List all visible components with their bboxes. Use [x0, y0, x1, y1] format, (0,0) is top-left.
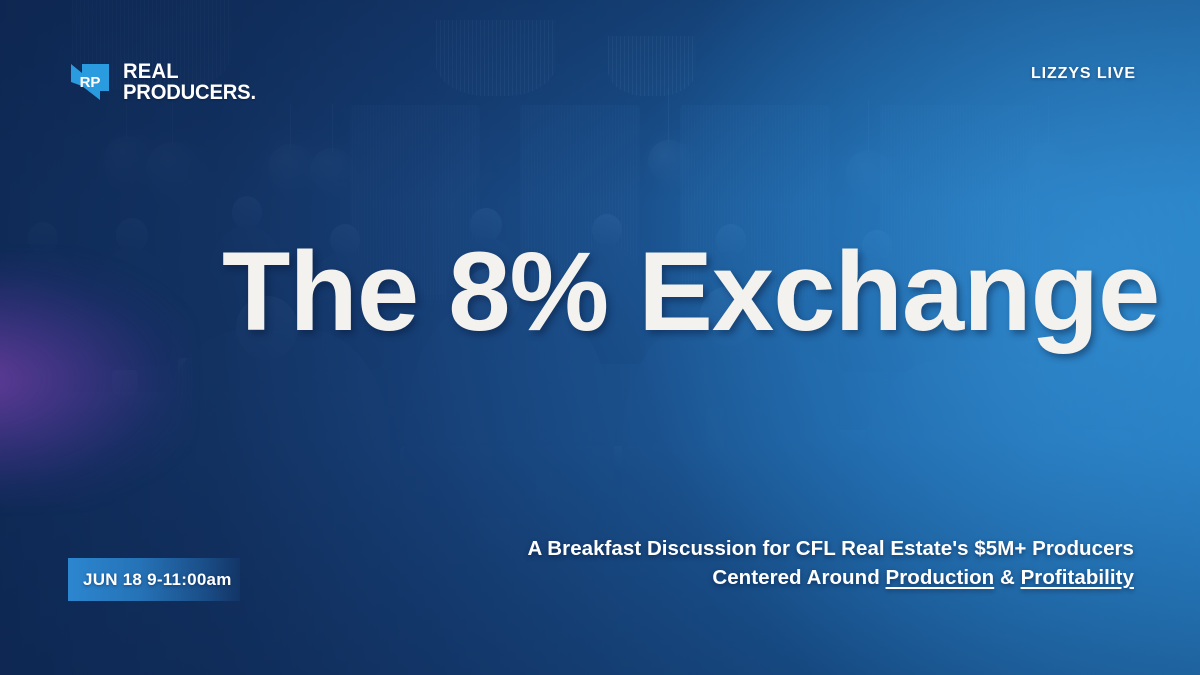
subtitle-line-1: A Breakfast Discussion for CFL Real Esta… [527, 534, 1134, 563]
date-time-label: JUN 18 9-11:00am [83, 570, 232, 590]
purple-bloom [0, 255, 190, 505]
date-time-badge: JUN 18 9-11:00am [68, 558, 240, 601]
subtitle: A Breakfast Discussion for CFL Real Esta… [527, 534, 1134, 592]
subtitle-line2-joiner: & [994, 566, 1020, 589]
event-banner: RP REAL PRODUCERS. LIZZYS LIVE The 8% Ex… [0, 0, 1200, 675]
subtitle-link-profitability[interactable]: Profitability [1021, 566, 1134, 589]
real-producers-logo[interactable]: RP REAL PRODUCERS. [68, 60, 264, 104]
rp-monogram: RP [80, 74, 101, 91]
subtitle-line-2: Centered Around Production & Profitabili… [527, 563, 1134, 592]
series-kicker: LIZZYS LIVE [1031, 65, 1136, 83]
subtitle-line2-prefix: Centered Around [712, 566, 885, 589]
logo-word-line2: PRODUCERS. [123, 82, 256, 104]
logo-wordmark: REAL PRODUCERS. [123, 61, 256, 104]
subtitle-link-production[interactable]: Production [886, 566, 995, 589]
rp-logo-mark-icon: RP [68, 60, 112, 104]
logo-word-line1: REAL [123, 61, 256, 83]
page-title: The 8% Exchange [222, 236, 1159, 348]
